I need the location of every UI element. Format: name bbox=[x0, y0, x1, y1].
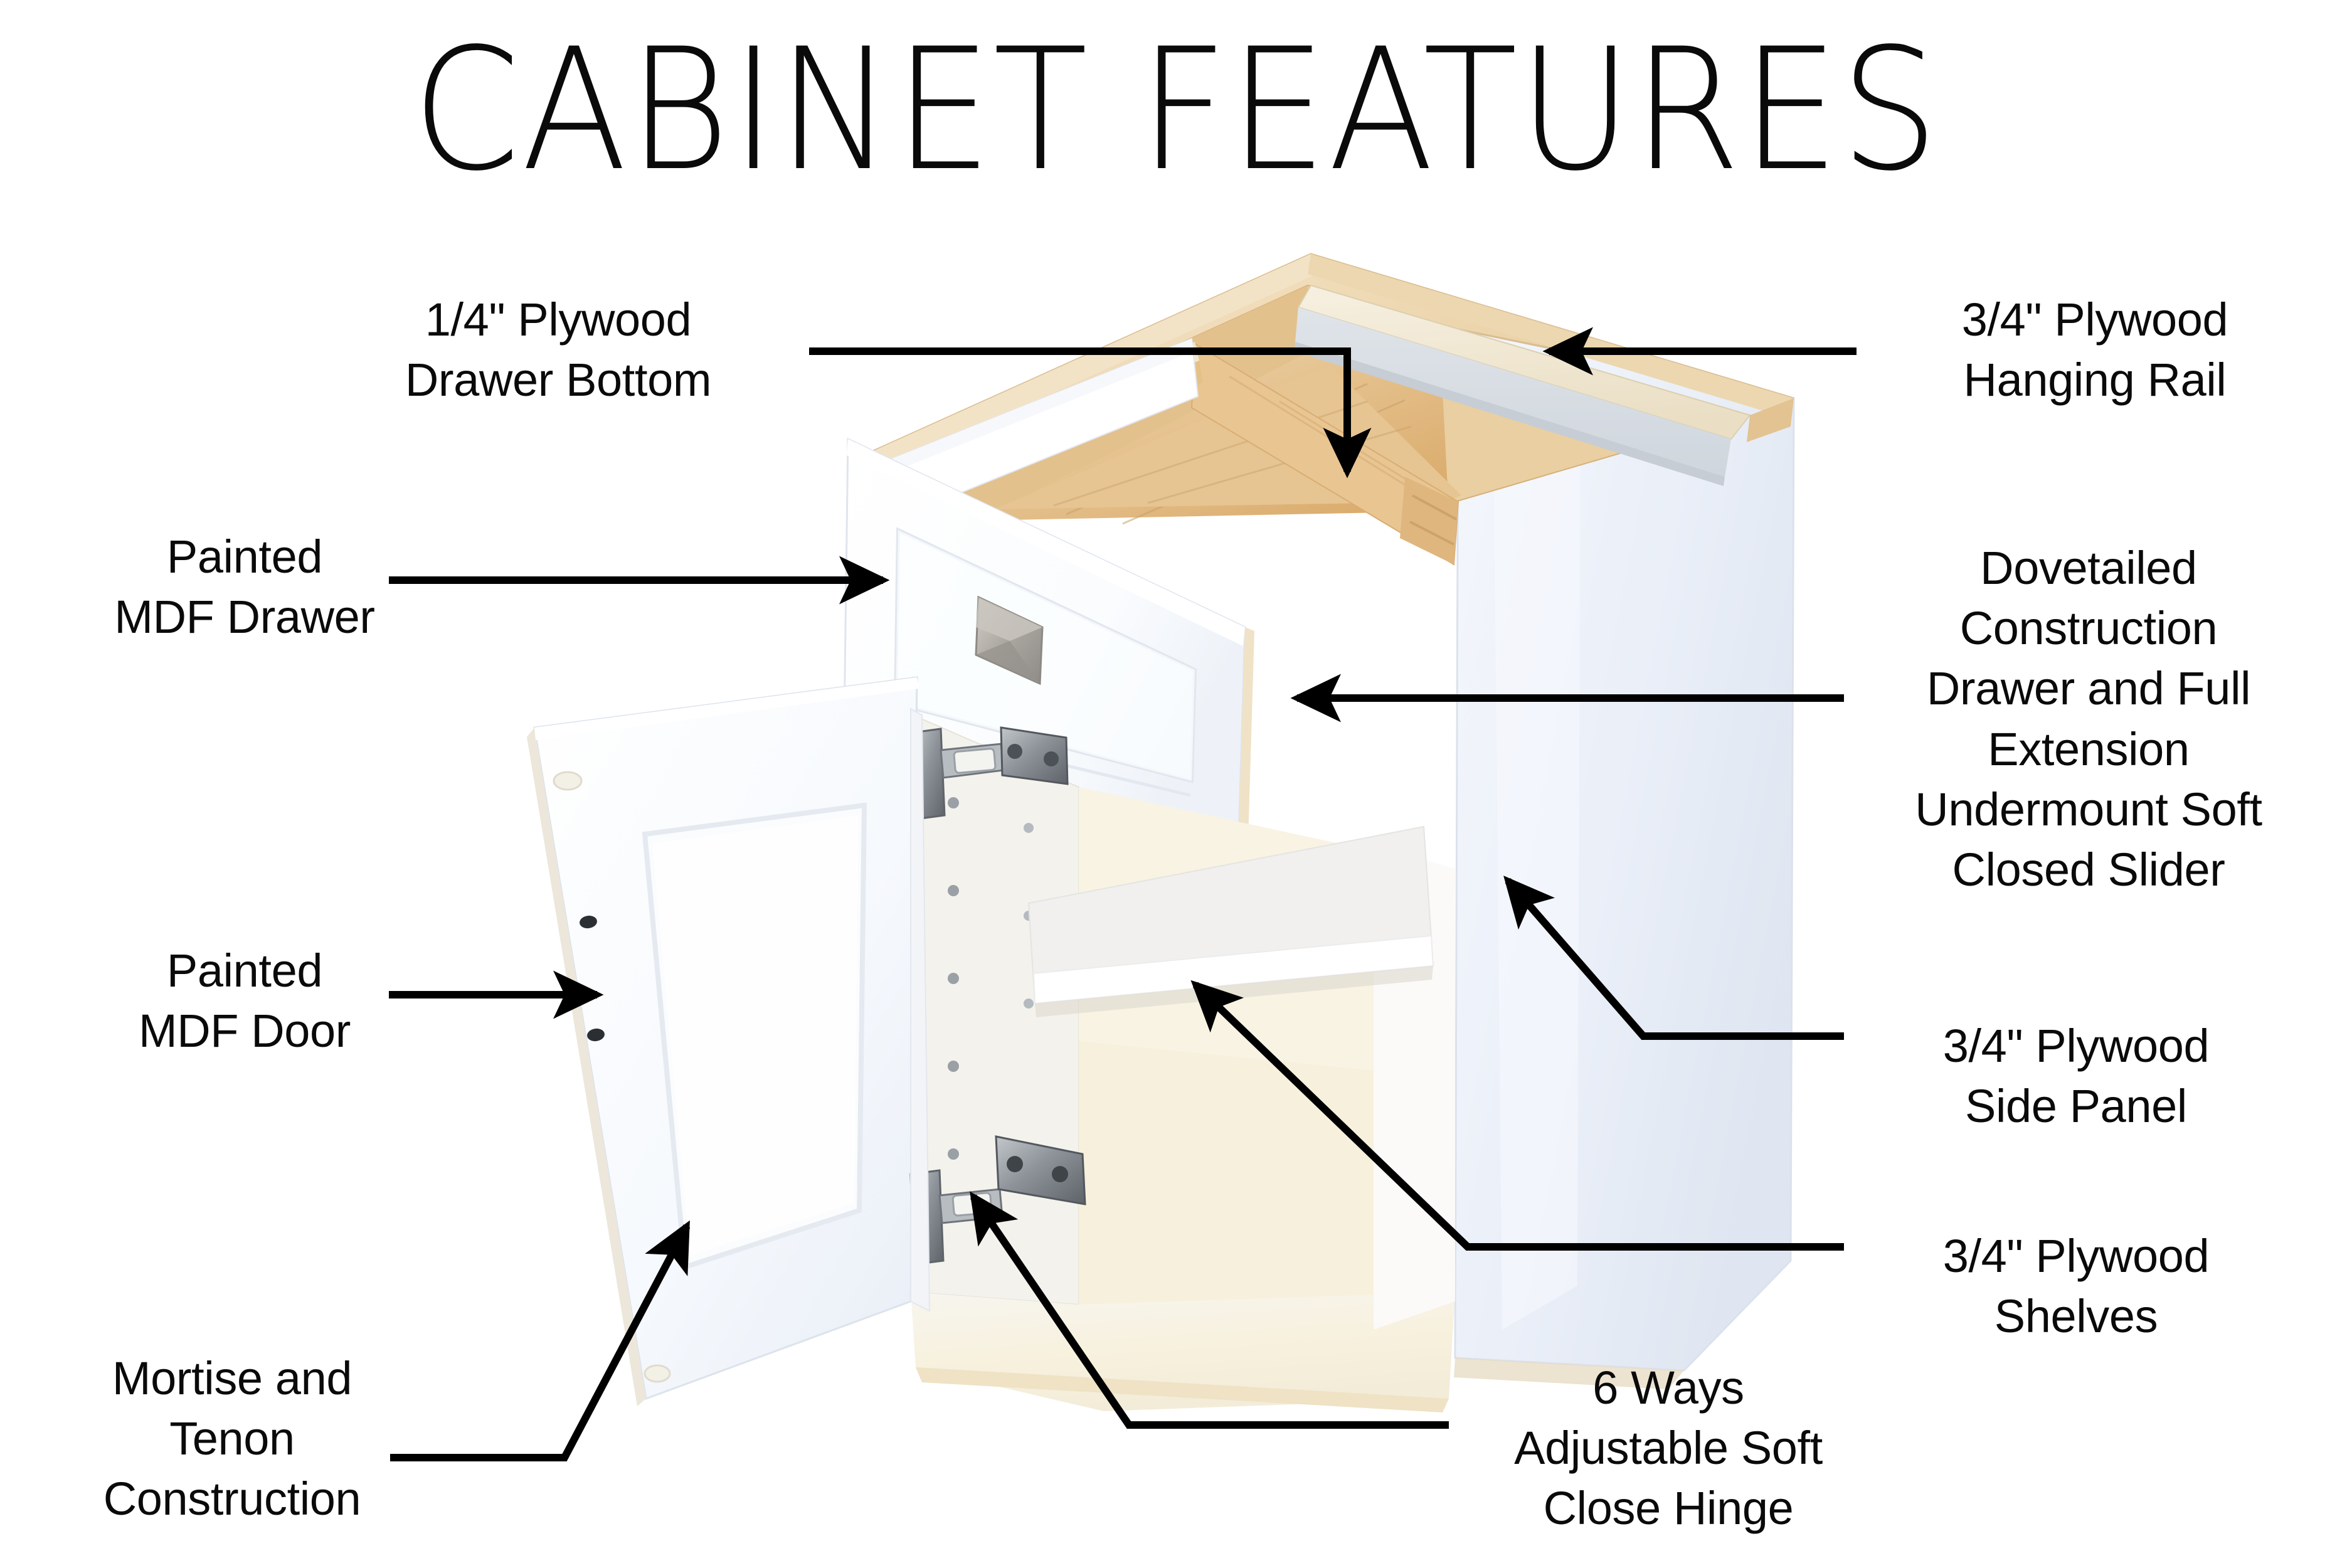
callout-painted-mdf-drawer: Painted MDF Drawer bbox=[44, 527, 445, 647]
cabinet-interior bbox=[911, 715, 1455, 1411]
callout-hanging-rail: 3/4" Plywood Hanging Rail bbox=[1875, 290, 2314, 410]
cabinet-door bbox=[527, 677, 919, 1406]
callout-side-panel: 3/4" Plywood Side Panel bbox=[1857, 1016, 2296, 1136]
callout-drawer-bottom: 1/4" Plywood Drawer Bottom bbox=[358, 290, 759, 410]
poster-canvas: CABINET FEATURES bbox=[0, 0, 2352, 1568]
callout-shelves: 3/4" Plywood Shelves bbox=[1857, 1226, 2296, 1347]
callout-painted-mdf-door: Painted MDF Door bbox=[44, 941, 445, 1061]
callout-dovetailed-construction: Dovetailed Construction Drawer and Full … bbox=[1857, 538, 2321, 900]
callout-mortise-and-tenon: Mortise and Tenon Construction bbox=[25, 1348, 439, 1530]
callout-soft-close-hinge: 6 Ways Adjustable Soft Close Hinge bbox=[1455, 1358, 1882, 1539]
cabinet-side-panel bbox=[1454, 329, 1794, 1389]
